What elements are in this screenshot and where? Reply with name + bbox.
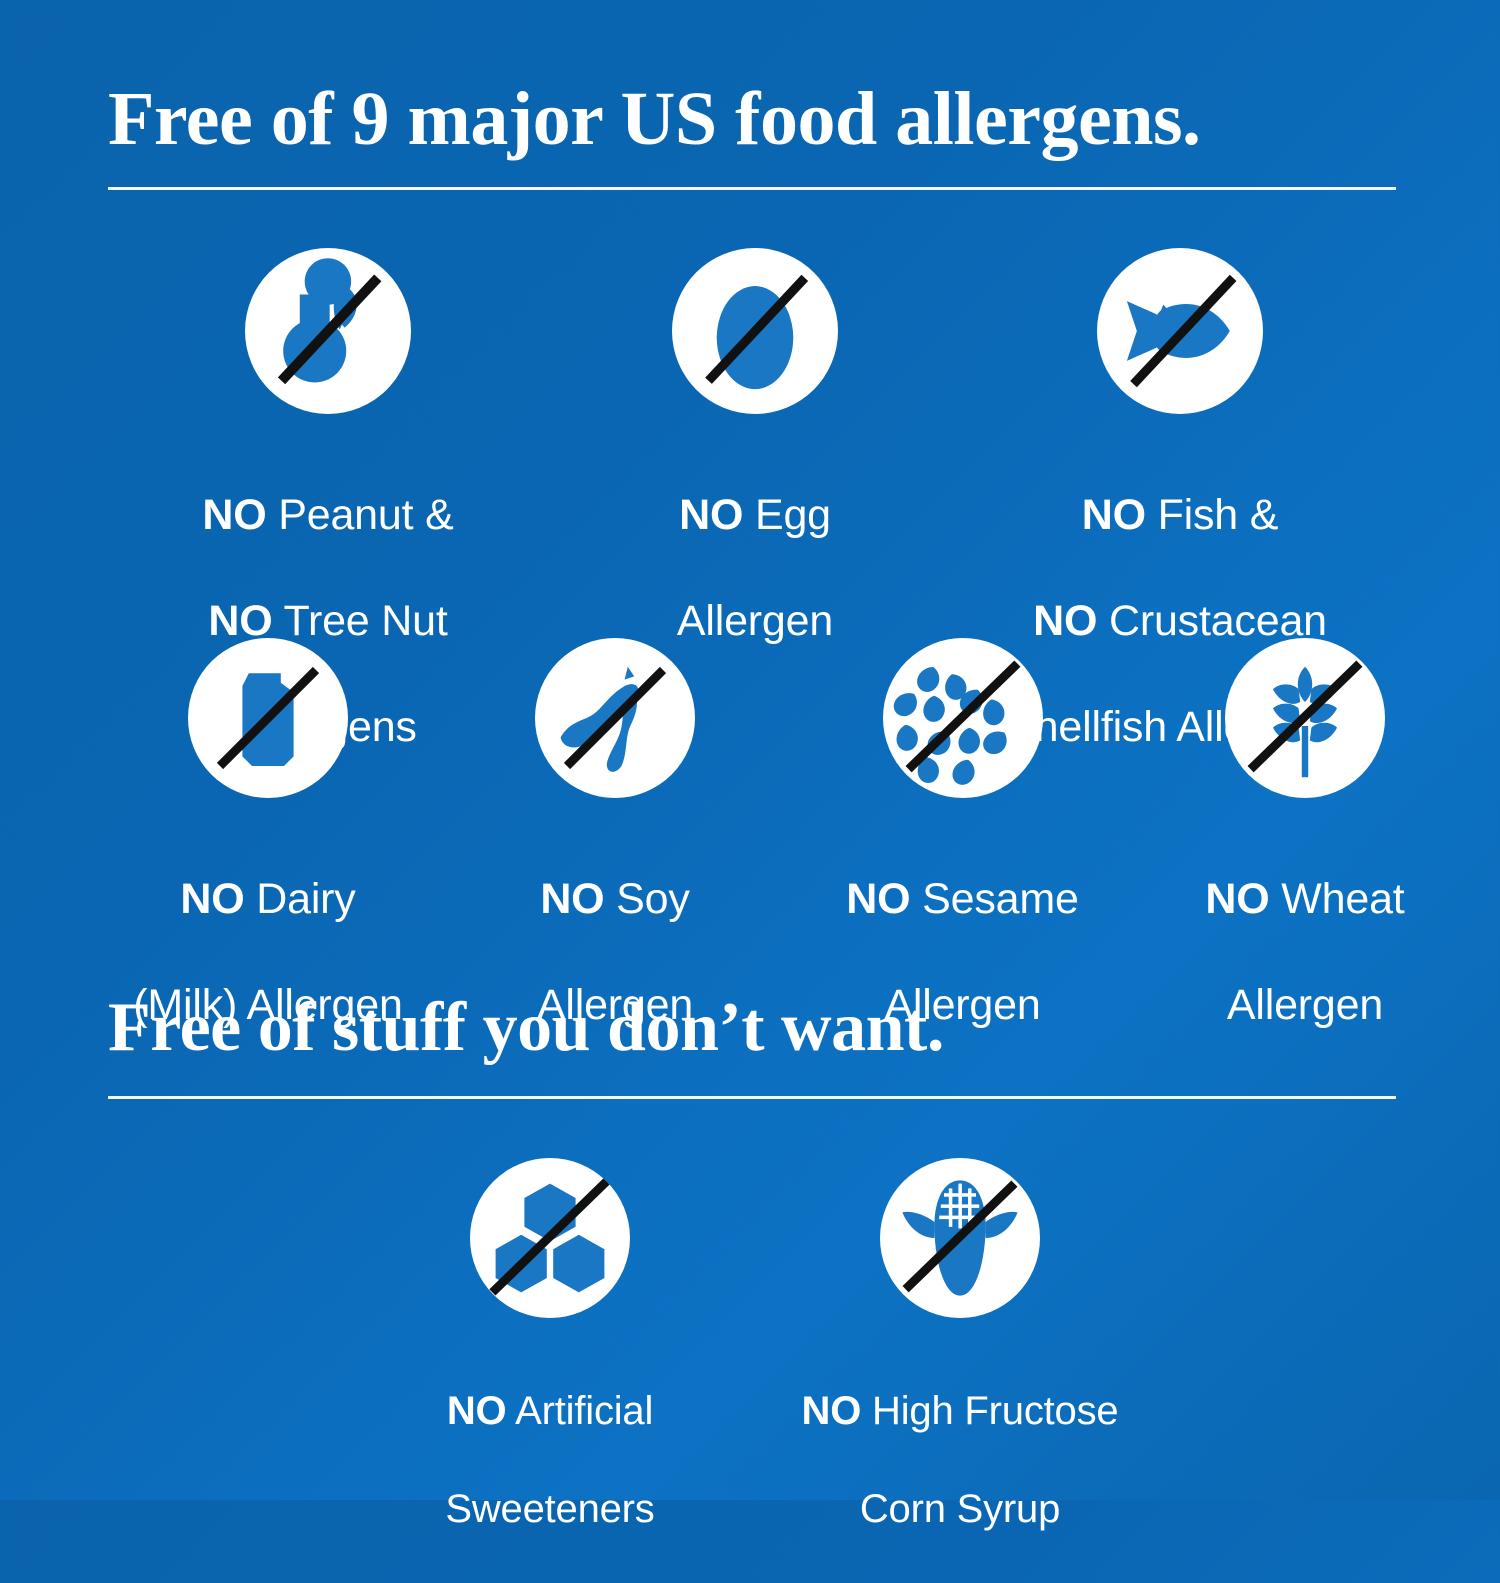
milk-carton-icon [188,638,348,798]
peanut-tree-nut-icon [245,248,411,414]
soybean-icon [535,638,695,798]
allergen-item-egg: NO Egg Allergen [555,248,955,701]
fish-icon [1097,248,1263,414]
corn-icon [880,1158,1040,1318]
ingredient-item-high-fructose-corn-syrup: NO High Fructose Corn Syrup [775,1158,1145,1583]
wheat-stalk-icon [1225,638,1385,798]
ingredient-label-sweeteners: NO Artificial Sweeteners [370,1338,730,1583]
no-prefix: NO [1205,875,1269,923]
allergen-info-panel: Free of 9 major US food allergens. NO Pe… [0,0,1500,1500]
no-prefix: NO [447,1389,507,1433]
allergen-item-wheat: NO Wheat Allergen [1145,638,1465,1085]
no-prefix: NO [802,1389,862,1433]
no-prefix: NO [202,491,266,539]
allergen-label-wheat: NO Wheat Allergen [1145,820,1465,1085]
ingredient-item-artificial-sweeteners: NO Artificial Sweeteners [370,1158,730,1583]
no-prefix: NO [540,875,604,923]
sesame-seeds-icon [883,638,1043,798]
divider-unwanted [108,1096,1396,1099]
no-prefix: NO [679,491,743,539]
no-prefix: NO [180,875,244,923]
page-title-unwanted: Free of stuff you don’t want. [108,988,944,1068]
artificial-sweetener-icon [470,1158,630,1318]
egg-icon [672,248,838,414]
no-prefix: NO [1082,491,1146,539]
ingredient-label-hfcs: NO High Fructose Corn Syrup [775,1338,1145,1583]
no-prefix: NO [846,875,910,923]
page-title-allergens: Free of 9 major US food allergens. [108,76,1201,162]
divider-allergens [108,187,1396,190]
